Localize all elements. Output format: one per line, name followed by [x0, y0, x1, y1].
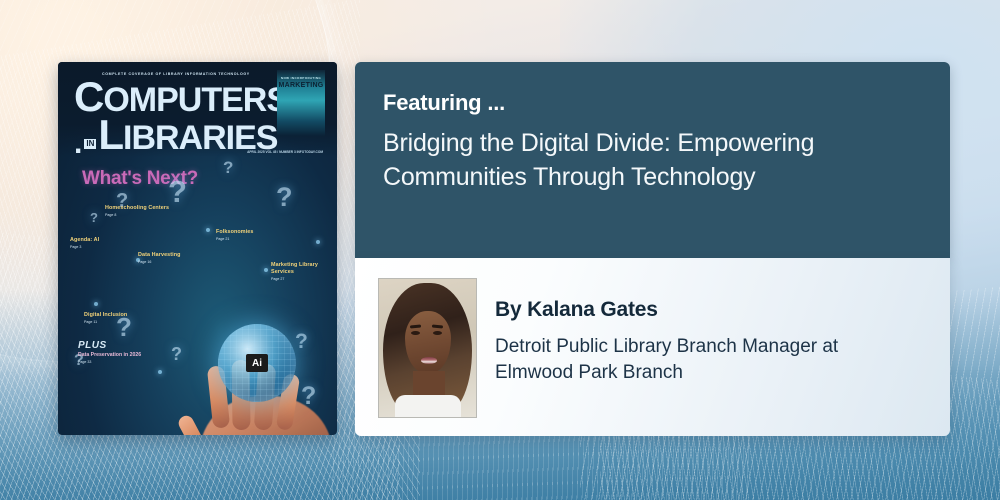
- coverline-title: Homeschooling Centers: [105, 205, 171, 212]
- author-panel: By Kalana Gates Detroit Public Library B…: [355, 258, 950, 436]
- coverline-5: Digital Inclusion Page 11: [84, 312, 138, 324]
- coverline-page: Page 27: [271, 277, 321, 281]
- question-mark-icon: ?: [295, 330, 308, 354]
- author-portrait: [378, 278, 477, 418]
- marketing-box-subtitle: NOW INCORPORATING: [277, 76, 325, 80]
- coverline-3: Folksonomies Page 21: [216, 229, 278, 241]
- question-mark-icon: ?: [276, 182, 293, 213]
- portrait-shirt: [395, 395, 461, 417]
- masthead-dot: .: [74, 135, 82, 153]
- ai-sphere-icon: Ai: [218, 324, 296, 402]
- coverline-page: Page 8: [105, 213, 171, 217]
- plus-title: Data Preservation in 2026: [78, 352, 141, 359]
- marketing-box-title: MARKETING: [277, 82, 325, 89]
- ai-chip-label: Ai: [246, 354, 268, 372]
- cover-marketing-box: NOW INCORPORATING MARKETING: [277, 70, 325, 136]
- cover-plus-block: PLUS Data Preservation in 2026 Page 33: [78, 340, 141, 364]
- masthead-computers: COMPUTERS: [74, 79, 288, 115]
- cover-tagline: COMPLETE COVERAGE OF LIBRARY INFORMATION…: [102, 72, 270, 76]
- masthead-in-badge: IN: [84, 139, 96, 149]
- magazine-cover-image: COMPLETE COVERAGE OF LIBRARY INFORMATION…: [58, 62, 337, 435]
- masthead-row2: . IN LIBRARIES: [74, 117, 288, 153]
- question-mark-icon: ?: [223, 158, 233, 178]
- coverline-title: Marketing Library Services: [271, 262, 321, 276]
- coverline-4: Marketing Library Services Page 27: [271, 262, 321, 281]
- coverline-title: Folksonomies: [216, 229, 278, 236]
- coverline-0: Homeschooling Centers Page 8: [105, 205, 171, 217]
- coverline-2: Data Harvesting Page 16: [138, 252, 204, 264]
- portrait-mouth: [421, 357, 437, 364]
- author-description: Detroit Public Library Branch Manager at…: [495, 334, 920, 386]
- portrait-eye: [411, 331, 420, 335]
- feature-eyebrow: Featuring ...: [383, 90, 505, 116]
- coverline-page: Page 11: [84, 320, 138, 324]
- masthead-libraries-cap: L: [98, 111, 123, 158]
- coverline-title: Data Harvesting: [138, 252, 204, 259]
- author-byline: By Kalana Gates: [495, 298, 658, 322]
- cover-issue-info: APRIL 2025 VOL 45 / NUMBER 3 INFOTODAY.C…: [247, 150, 323, 155]
- coverline-page: Page 21: [216, 237, 278, 241]
- plus-page: Page 33: [78, 360, 141, 364]
- portrait-neck: [413, 371, 445, 397]
- feature-headline: Bridging the Digital Divide: Empowering …: [383, 126, 910, 194]
- masthead-libraries: LIBRARIES: [98, 117, 277, 153]
- coverline-page: Page 3: [70, 245, 130, 249]
- coverline-1: Agenda: AI Page 3: [70, 237, 130, 249]
- masthead-computers-rest: OMPUTERS: [103, 81, 288, 119]
- portrait-eye: [433, 331, 442, 335]
- cover-masthead: COMPUTERS . IN LIBRARIES: [74, 79, 288, 153]
- coverline-title: Digital Inclusion: [84, 312, 138, 319]
- promo-graphic: COMPLETE COVERAGE OF LIBRARY INFORMATION…: [0, 0, 1000, 500]
- plus-label: PLUS: [78, 340, 141, 351]
- feature-panel: Featuring ... Bridging the Digital Divid…: [355, 62, 950, 258]
- question-mark-icon: ?: [90, 210, 98, 225]
- coverline-title: Agenda: AI: [70, 237, 130, 244]
- coverline-page: Page 16: [138, 260, 204, 264]
